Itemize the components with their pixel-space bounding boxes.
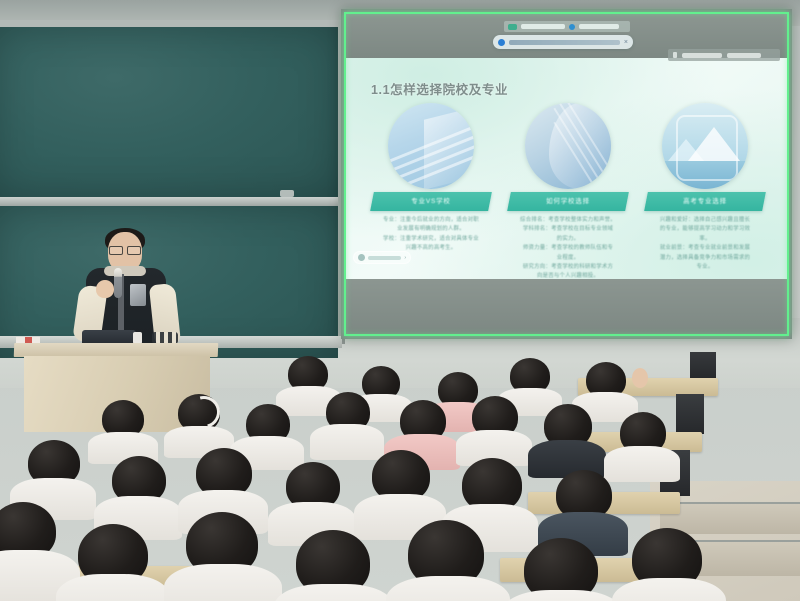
participant-icon <box>569 24 575 30</box>
toolbar-text-b <box>727 53 761 58</box>
glasses-icon <box>109 246 141 253</box>
chalkboard-clip <box>280 190 294 197</box>
stair-step <box>660 502 800 534</box>
chalkboard-panel-top <box>0 27 338 197</box>
student-shoulders <box>274 584 394 601</box>
chalkboard-rail <box>0 197 338 206</box>
meeting-status-bar[interactable] <box>504 21 630 32</box>
toast-message <box>509 40 620 45</box>
status-bar-text <box>521 24 565 29</box>
student-shoulders <box>386 576 510 601</box>
student-shoulders <box>164 564 282 601</box>
seated-students <box>0 352 800 601</box>
lecture-hall-photo: 1.1怎样选择院校及专业 专业VS学校 专业：注重今后就业的方向，适合对职 业发… <box>0 0 800 601</box>
presenter-collar <box>104 266 146 276</box>
screen-toolbar[interactable] <box>668 49 780 61</box>
toolbar-text-a <box>682 53 722 58</box>
toolbar-icon <box>673 52 677 58</box>
desk-side <box>676 394 704 434</box>
student-shoulders <box>604 446 680 482</box>
close-icon[interactable]: × <box>624 39 628 46</box>
desk-side <box>690 352 716 380</box>
status-badge-icon <box>508 24 517 30</box>
notification-toast[interactable]: × <box>493 35 633 49</box>
student-shoulders <box>502 590 622 601</box>
participant-count-text <box>579 24 619 29</box>
student-shoulders <box>310 424 384 460</box>
microphone-icon <box>114 268 122 298</box>
student-shoulders <box>56 574 170 601</box>
jacket-patch <box>130 284 146 306</box>
presenter-hand <box>96 280 114 298</box>
raised-hand <box>632 368 648 388</box>
info-icon <box>498 39 505 46</box>
